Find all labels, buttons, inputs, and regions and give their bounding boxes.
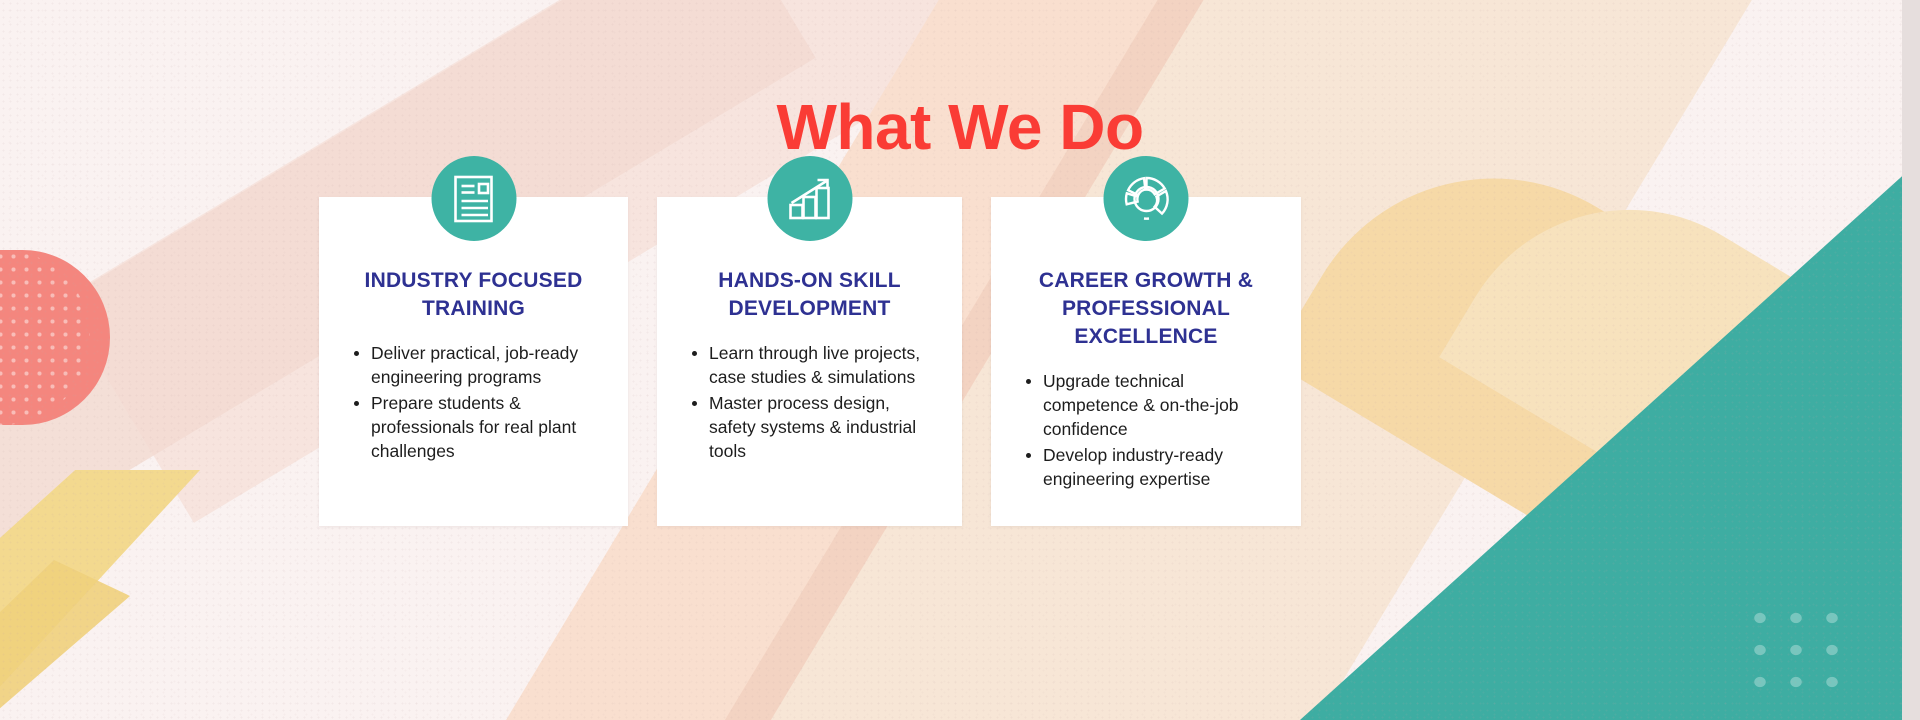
document-lines-icon [431,156,516,241]
slide-canvas: What We Do INDUSTRY FOCUSED TRAINING [0,0,1920,720]
card-bullet-list: Learn through live projects, case studie… [657,341,962,464]
feature-card-career-growth-professional-excellence[interactable]: CAREER GROWTH & PROFESSIONAL EXCELLENCE … [991,197,1301,526]
feature-card-industry-focused-training[interactable]: INDUSTRY FOCUSED TRAINING Deliver practi… [319,197,628,526]
list-item: Deliver practical, job-ready engineering… [371,341,604,389]
donut-chart-icon [1104,156,1189,241]
card-bullet-list: Deliver practical, job-ready engineering… [319,341,628,464]
bar-chart-growth-icon [767,156,852,241]
list-item: Develop industry-ready engineering exper… [1043,443,1277,491]
page-title: What We Do [0,95,1920,159]
list-item: Learn through live projects, case studie… [709,341,938,389]
feature-card-hands-on-skill-development[interactable]: HANDS-ON SKILL DEVELOPMENT Learn through… [657,197,962,526]
card-bullet-list: Upgrade technical competence & on-the-jo… [991,369,1301,492]
list-item: Upgrade technical competence & on-the-jo… [1043,369,1277,441]
list-item: Master process design, safety systems & … [709,391,938,463]
list-item: Prepare students & professionals for rea… [371,391,604,463]
feature-card-list: INDUSTRY FOCUSED TRAINING Deliver practi… [319,197,1301,526]
